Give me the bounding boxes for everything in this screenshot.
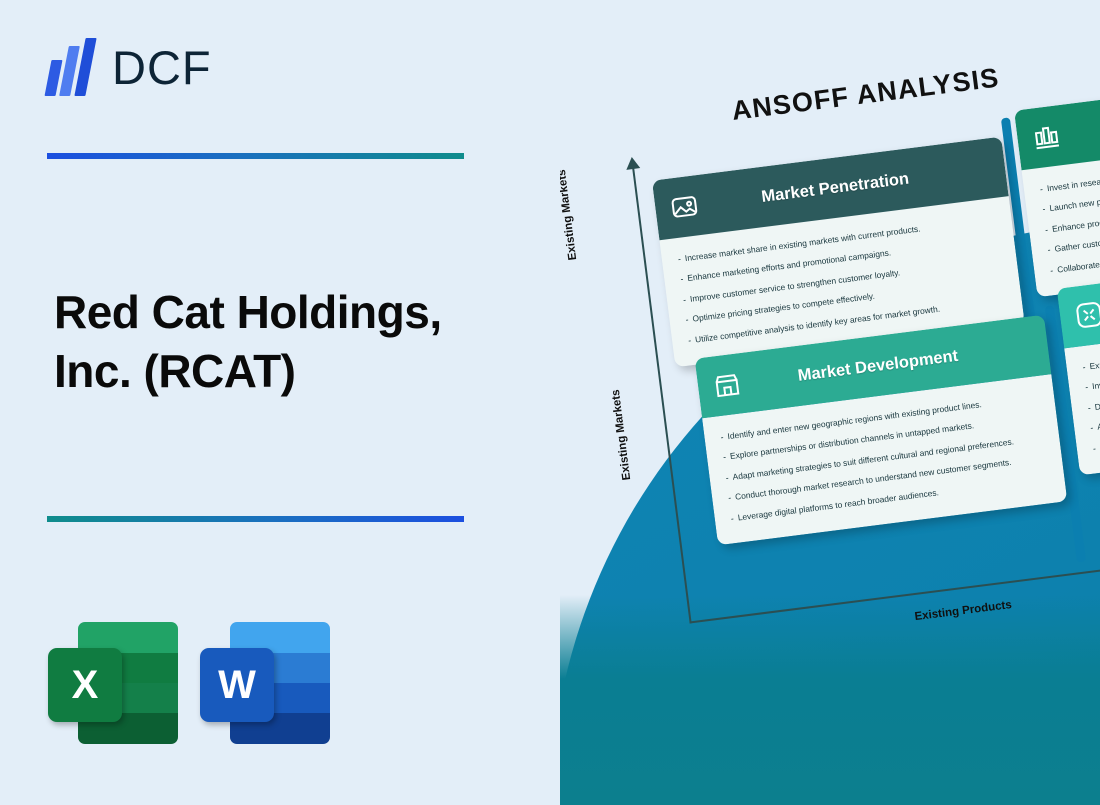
y-axis-label-bottom: Existing Markets [610, 389, 633, 481]
page-title: Red Cat Holdings, Inc. (RCAT) [54, 283, 524, 401]
ansoff-matrix-graphic: ANSOFF ANALYSIS Existing Markets Existin… [540, 0, 1100, 805]
bar-chart-icon [1030, 120, 1064, 154]
divider-top [47, 153, 464, 159]
three-bars-logo-icon [46, 38, 98, 96]
brand-logo-text: DCF [112, 44, 212, 91]
left-info-panel: DCF Red Cat Holdings, Inc. (RCAT) X W [0, 0, 560, 805]
word-badge-letter: W [200, 648, 274, 722]
card-header: Product Development [1014, 67, 1100, 171]
ansoff-diagram-plane: ANSOFF ANALYSIS Existing Markets Existin… [547, 9, 1100, 642]
ansoff-title: ANSOFF ANALYSIS [730, 62, 1001, 127]
excel-file-icon[interactable]: X [48, 622, 178, 744]
storefront-icon [710, 368, 744, 402]
divider-bottom [47, 516, 464, 522]
y-axis-arrow-icon [625, 156, 640, 170]
expand-arrows-icon [1072, 298, 1100, 332]
brand-logo[interactable]: DCF [46, 38, 212, 96]
word-file-icon[interactable]: W [200, 622, 330, 744]
file-format-icons: X W [48, 622, 330, 744]
image-icon [668, 190, 702, 224]
excel-badge-letter: X [48, 648, 122, 722]
card-title: Product Development [1060, 87, 1100, 144]
